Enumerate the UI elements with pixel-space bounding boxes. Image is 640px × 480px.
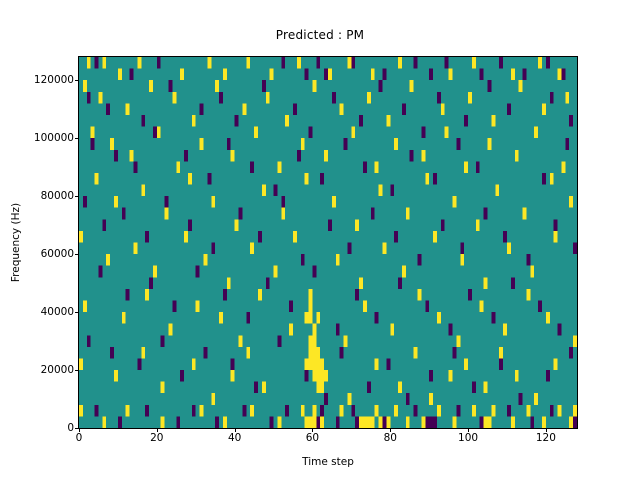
y-tick-label: 0 bbox=[67, 423, 74, 433]
y-tick-label: 100000 bbox=[34, 133, 74, 143]
y-tick-label: 120000 bbox=[34, 75, 74, 85]
y-tick-label: 80000 bbox=[41, 191, 74, 201]
x-tick-label: 120 bbox=[526, 433, 566, 444]
chart-title: Predicted : PM bbox=[0, 28, 640, 42]
heatmap-grid bbox=[79, 57, 577, 428]
x-tick-label: 100 bbox=[448, 433, 488, 444]
y-tick-label: 60000 bbox=[41, 249, 74, 259]
x-tick-label: 60 bbox=[292, 433, 332, 444]
plot-axes bbox=[78, 56, 578, 429]
y-tick-label: 40000 bbox=[41, 307, 74, 317]
matplotlib-figure: Predicted : PM Frequency (Hz) Time step … bbox=[0, 0, 640, 480]
x-tick-label: 0 bbox=[59, 433, 99, 444]
x-tick-label: 20 bbox=[137, 433, 177, 444]
y-tick-label: 20000 bbox=[41, 365, 74, 375]
x-tick-label: 40 bbox=[215, 433, 255, 444]
x-axis-label: Time step bbox=[79, 456, 577, 468]
y-axis-label: Frequency (Hz) bbox=[10, 57, 24, 428]
x-tick-label: 80 bbox=[370, 433, 410, 444]
